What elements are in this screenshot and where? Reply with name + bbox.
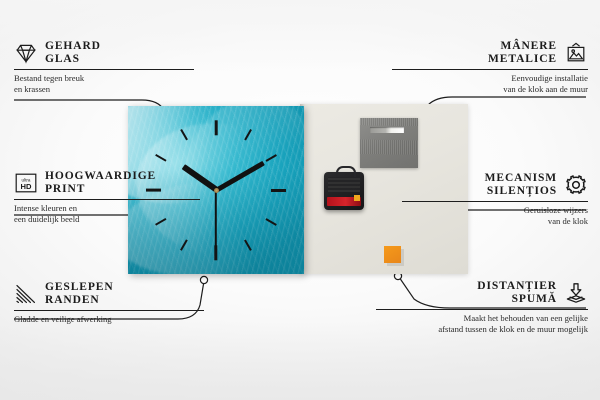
feature-subtitle-line: Maakt het behouden van een gelijke xyxy=(376,313,588,324)
feature-rule xyxy=(14,310,204,311)
clock-center-pin xyxy=(214,188,219,193)
gear-icon xyxy=(564,174,588,196)
feature-subtitle-line: Bestand tegen breuk xyxy=(14,73,194,84)
feature-title-line: MÂNERE xyxy=(500,40,557,53)
clock-tick xyxy=(215,120,218,135)
wall-mount-frame-icon xyxy=(564,42,588,64)
feature-title-line: PRINT xyxy=(45,183,156,196)
feature-title-line: GESLEPEN xyxy=(45,281,114,294)
feature-rule xyxy=(376,309,588,310)
feature-subtitle-line: en krassen xyxy=(14,84,194,95)
feature-subtitle-line: van de klok aan de muur xyxy=(392,84,588,95)
arrow-down-layers-icon xyxy=(564,282,588,304)
feature-title-line: MECANISM xyxy=(485,172,557,185)
feature-title-line: DISTANȚIER xyxy=(477,280,557,293)
feature-subtitle-line: Eenvoudige installatie xyxy=(392,73,588,84)
clock-movement xyxy=(324,172,364,210)
clock-tick xyxy=(180,240,188,251)
feature-title-line: SILENȚIOS xyxy=(487,185,557,198)
feature-hoogwaardige-print: ultra HD HOOGWAARDIGE PRINT Intense kleu… xyxy=(14,170,200,225)
foam-spacer xyxy=(384,246,401,263)
bevelled-edge-icon xyxy=(14,283,38,305)
clock-tick xyxy=(244,129,252,140)
feature-subtitle-line: Gladde en veilige afwerking xyxy=(14,314,204,325)
feature-rule xyxy=(402,201,588,202)
movement-hanging-loop xyxy=(336,166,356,177)
feature-subtitle-line: een duidelijk beeld xyxy=(14,214,200,225)
feature-title-line: GLAS xyxy=(45,53,101,66)
svg-text:HD: HD xyxy=(21,182,32,191)
feature-title-line: GEHARD xyxy=(45,40,101,53)
battery xyxy=(327,197,361,206)
feature-rule xyxy=(14,69,194,70)
infographic-canvas: GEHARD GLAS Bestand tegen breuk en krass… xyxy=(0,0,600,400)
feature-subtitle-line: Geruisloze wijzers xyxy=(402,205,588,216)
feature-rule xyxy=(14,199,200,200)
feature-title-line: METALICE xyxy=(488,53,557,66)
clock-tick xyxy=(155,154,166,162)
diamond-icon xyxy=(14,42,38,64)
feature-title-line: HOOGWAARDIGE xyxy=(45,170,156,183)
feature-rule xyxy=(392,69,588,70)
feature-subtitle-line: Intense kleuren en xyxy=(14,203,200,214)
feature-subtitle-line: afstand tussen de klok en de muur mogeli… xyxy=(376,324,588,335)
clock-tick xyxy=(244,240,252,251)
feature-title-line: RANDEN xyxy=(45,294,114,307)
feature-mecanism-silentios: MECANISM SILENȚIOS Geruisloze wijzers va… xyxy=(402,172,588,227)
feature-geslepen-randen: GESLEPEN RANDEN Gladde en veilige afwerk… xyxy=(14,281,204,325)
clock-tick xyxy=(266,218,277,226)
metal-hanger-plate xyxy=(360,118,418,168)
hanger-slot xyxy=(370,127,404,133)
clock-second-hand xyxy=(215,190,217,250)
clock-minute-hand xyxy=(215,160,265,192)
movement-panel xyxy=(328,177,360,192)
feature-gehard-glas: GEHARD GLAS Bestand tegen breuk en krass… xyxy=(14,40,194,95)
clock-tick xyxy=(266,154,277,162)
clock-tick xyxy=(271,189,286,192)
feature-manere-metalice: MÂNERE METALICE Eenvoudige installatie v… xyxy=(392,40,588,95)
feature-title-line: SPUMĂ xyxy=(512,293,557,306)
feature-subtitle-line: van de klok xyxy=(402,216,588,227)
clock-tick xyxy=(180,129,188,140)
ultra-hd-icon: ultra HD xyxy=(14,172,38,194)
feature-distantier-spuma: DISTANȚIER SPUMĂ Maakt het behouden van … xyxy=(376,280,588,335)
